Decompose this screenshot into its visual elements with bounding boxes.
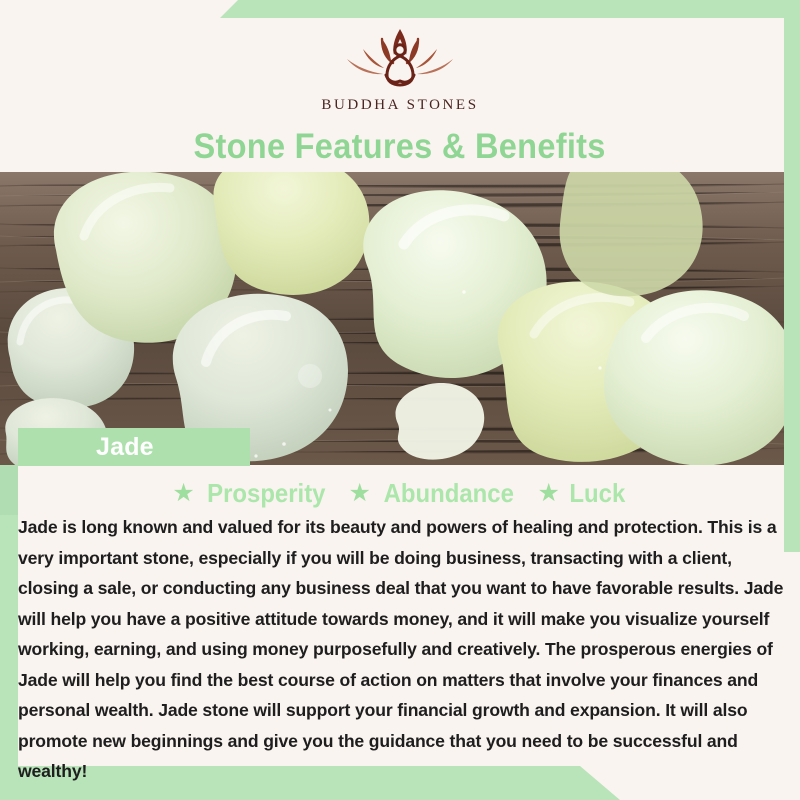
star-icon: ★	[172, 481, 194, 506]
jade-stones-photo	[0, 172, 784, 465]
benefit-label: Prosperity	[207, 478, 325, 509]
benefit-item-luck: ★ Luck	[537, 478, 627, 509]
brand-logo: BUDDHA STONES	[0, 18, 800, 118]
title-banner: Stone Features & Benefits	[0, 122, 800, 172]
benefit-item-abundance: ★ Abundance	[348, 478, 519, 509]
lotus-meditation-icon	[325, 23, 475, 95]
stone-name-label: Jade	[96, 433, 154, 462]
brand-wordmark: BUDDHA STONES	[321, 97, 478, 114]
benefit-label: Abundance	[384, 478, 514, 509]
photo-artwork	[0, 172, 784, 465]
benefit-label: Luck	[569, 478, 625, 509]
page-title: Stone Features & Benefits	[194, 127, 606, 167]
top-accent-bar	[220, 0, 800, 18]
stone-description: Jade is long known and valued for its be…	[18, 512, 786, 787]
benefits-list: ★ Prosperity ★ Abundance ★ Luck	[0, 478, 800, 509]
star-icon: ★	[348, 481, 370, 506]
benefit-item-prosperity: ★ Prosperity	[172, 478, 330, 509]
star-icon: ★	[537, 481, 559, 506]
stone-name-banner: Jade	[18, 428, 250, 466]
